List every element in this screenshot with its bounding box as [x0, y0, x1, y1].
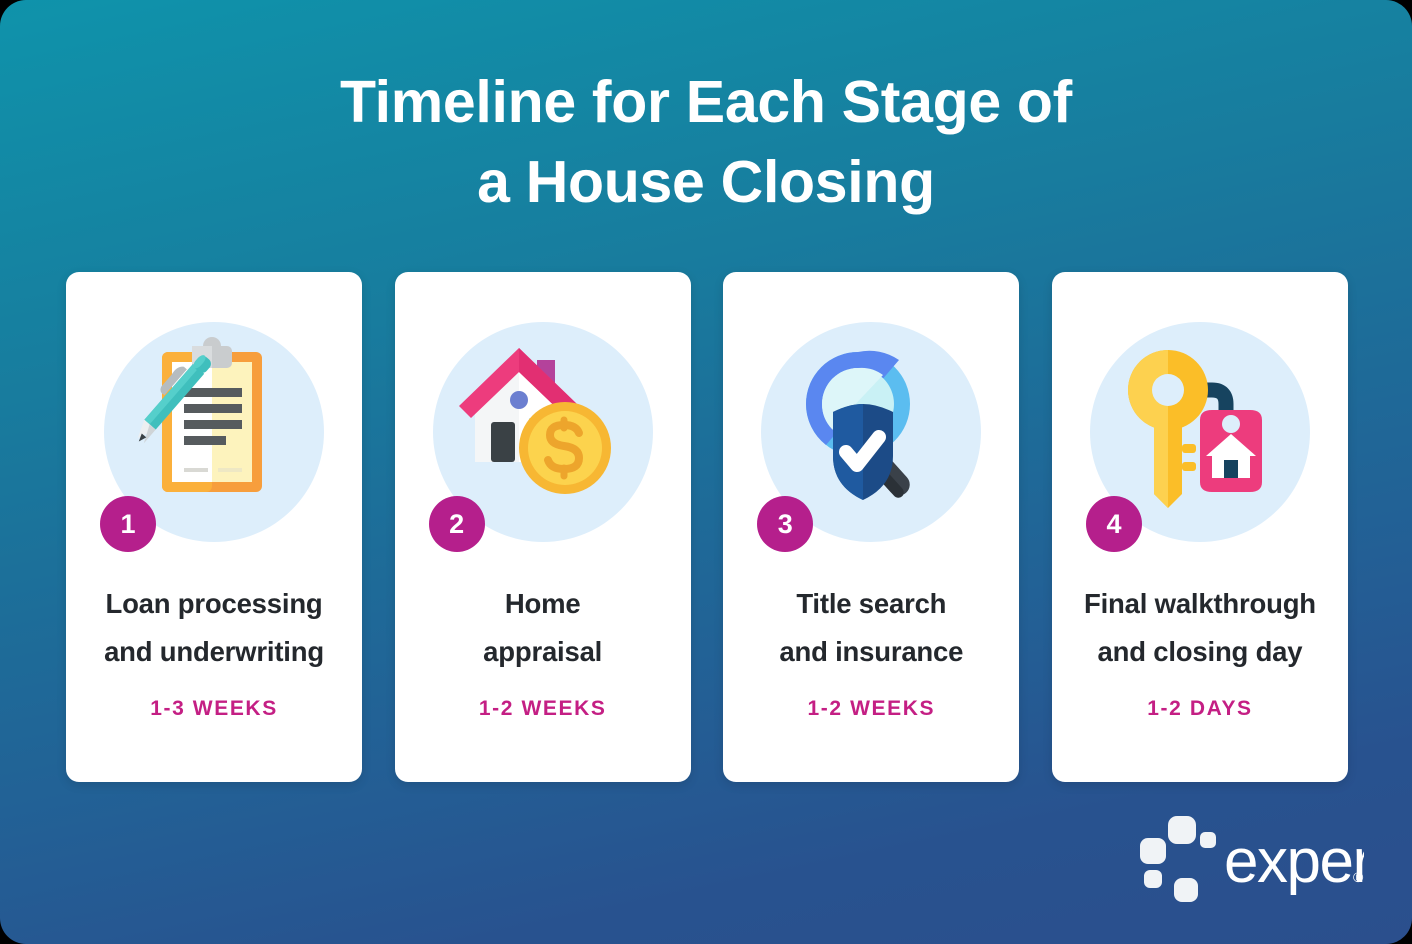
card-2-heading: Home appraisal: [407, 580, 679, 676]
card-2-duration: 1-2 WEEKS: [407, 697, 679, 721]
card-4-duration: 1-2 DAYS: [1064, 697, 1336, 721]
step-number-badge: 3: [757, 496, 813, 552]
page-title-line-1: Timeline for Each Stage of: [0, 62, 1412, 142]
experian-registered-mark: ®: [1353, 869, 1364, 885]
step-number-badge: 1: [100, 496, 156, 552]
timeline-cards: 1 Loan processing and underwriting 1-3 W…: [66, 272, 1348, 782]
card-1-heading-line-1: Loan processing: [78, 580, 350, 628]
card-3-heading-line-1: Title search: [735, 580, 1007, 628]
card-1-heading-line-2: and underwriting: [78, 628, 350, 676]
page-title: Timeline for Each Stage of a House Closi…: [0, 62, 1412, 222]
card-4-heading-line-1: Final walkthrough: [1064, 580, 1336, 628]
experian-logo-wordmark: experian: [1224, 827, 1364, 896]
card-3-heading-line-2: and insurance: [735, 628, 1007, 676]
card-4-heading: Final walkthrough and closing day: [1064, 580, 1336, 676]
card-4-heading-line-2: and closing day: [1064, 628, 1336, 676]
timeline-card-1[interactable]: 1 Loan processing and underwriting 1-3 W…: [66, 272, 362, 782]
card-1-heading: Loan processing and underwriting: [78, 580, 350, 676]
card-3-duration: 1-2 WEEKS: [735, 697, 1007, 721]
experian-logo: experian ®: [1112, 816, 1364, 902]
card-3-heading: Title search and insurance: [735, 580, 1007, 676]
experian-logo-mark: [1140, 816, 1216, 902]
timeline-card-3[interactable]: 3 Title search and insurance 1-2 WEEKS: [723, 272, 1019, 782]
step-number-badge: 2: [429, 496, 485, 552]
timeline-card-2[interactable]: 2 Home appraisal 1-2 WEEKS: [395, 272, 691, 782]
card-2-heading-line-1: Home: [407, 580, 679, 628]
timeline-card-4[interactable]: 4 Final walkthrough and closing day 1-2 …: [1052, 272, 1348, 782]
infographic-canvas: Timeline for Each Stage of a House Closi…: [0, 0, 1412, 944]
card-1-duration: 1-3 WEEKS: [78, 697, 350, 721]
page-title-line-2: a House Closing: [0, 142, 1412, 222]
card-2-heading-line-2: appraisal: [407, 628, 679, 676]
step-number-badge: 4: [1086, 496, 1142, 552]
